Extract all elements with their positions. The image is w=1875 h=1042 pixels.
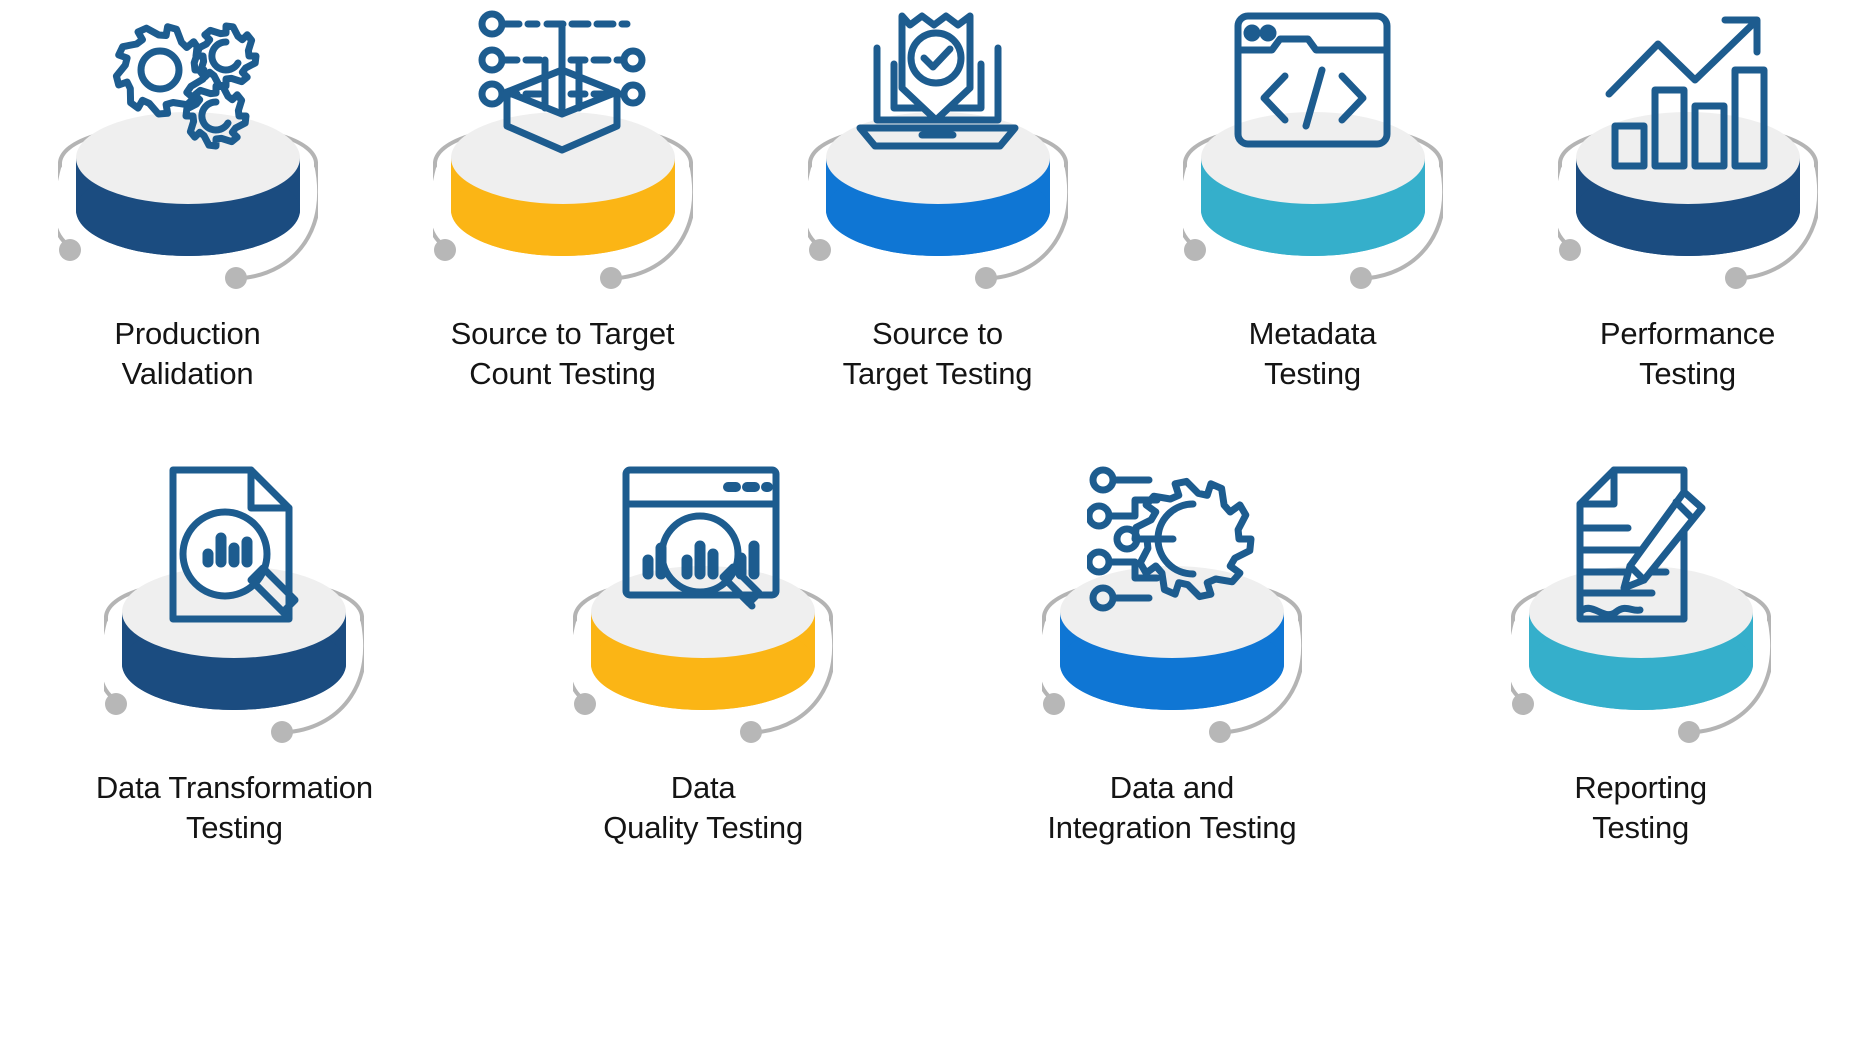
label-data-quality-testing: DataQuality Testing — [538, 768, 868, 847]
label-reporting-testing: ReportingTesting — [1476, 768, 1806, 847]
puck-data-transformation-testing — [104, 462, 364, 762]
label-line: Data and — [1007, 768, 1337, 808]
label-line: Count Testing — [398, 354, 728, 394]
diagram-item-production-validation[interactable]: ProductionValidation — [0, 8, 375, 393]
label-line: Production — [23, 314, 353, 354]
label-line: Testing — [1148, 354, 1478, 394]
label-line: Source to — [773, 314, 1103, 354]
diagram-item-source-to-target-testing[interactable]: Source toTarget Testing — [750, 8, 1125, 393]
label-line: Target Testing — [773, 354, 1103, 394]
puck-data-quality-testing — [573, 462, 833, 762]
label-line: Testing — [1523, 354, 1853, 394]
diagram-item-data-transformation-testing[interactable]: Data TransformationTesting — [0, 462, 469, 847]
label-line: Reporting — [1476, 768, 1806, 808]
label-performance-testing: PerformanceTesting — [1523, 314, 1853, 393]
label-line: Testing — [1476, 808, 1806, 848]
label-line: Metadata — [1148, 314, 1478, 354]
label-source-to-target-testing: Source toTarget Testing — [773, 314, 1103, 393]
diagram-item-performance-testing[interactable]: PerformanceTesting — [1500, 8, 1875, 393]
puck-shape — [808, 8, 1068, 308]
puck-data-and-integration-testing — [1042, 462, 1302, 762]
label-data-and-integration-testing: Data andIntegration Testing — [1007, 768, 1337, 847]
puck-source-to-target-count-testing — [433, 8, 693, 308]
puck-metadata-testing — [1183, 8, 1443, 308]
label-production-validation: ProductionValidation — [23, 314, 353, 393]
diagram-item-data-and-integration-testing[interactable]: Data andIntegration Testing — [938, 462, 1407, 847]
puck-shape — [1042, 462, 1302, 762]
puck-shape — [1558, 8, 1818, 308]
label-source-to-target-count-testing: Source to TargetCount Testing — [398, 314, 728, 393]
label-line: Performance — [1523, 314, 1853, 354]
label-line: Quality Testing — [538, 808, 868, 848]
diagram-item-reporting-testing[interactable]: ReportingTesting — [1406, 462, 1875, 847]
diagram-item-data-quality-testing[interactable]: DataQuality Testing — [469, 462, 938, 847]
label-metadata-testing: MetadataTesting — [1148, 314, 1478, 393]
puck-shape — [1511, 462, 1771, 762]
label-line: Data — [538, 768, 868, 808]
puck-shape — [573, 462, 833, 762]
label-line: Data Transformation — [69, 768, 399, 808]
puck-source-to-target-testing — [808, 8, 1068, 308]
label-line: Validation — [23, 354, 353, 394]
label-line: Source to Target — [398, 314, 728, 354]
icon-row-1: ProductionValidation — [0, 8, 1875, 393]
puck-shape — [1183, 8, 1443, 308]
label-line: Testing — [69, 808, 399, 848]
diagram-item-source-to-target-count-testing[interactable]: Source to TargetCount Testing — [375, 8, 750, 393]
puck-shape — [104, 462, 364, 762]
infographic-board: ProductionValidation — [0, 0, 1875, 1042]
puck-reporting-testing — [1511, 462, 1771, 762]
label-data-transformation-testing: Data TransformationTesting — [69, 768, 399, 847]
icon-row-2: Data TransformationTesting — [0, 462, 1875, 847]
puck-shape — [58, 8, 318, 308]
diagram-item-metadata-testing[interactable]: MetadataTesting — [1125, 8, 1500, 393]
puck-shape — [433, 8, 693, 308]
label-line: Integration Testing — [1007, 808, 1337, 848]
puck-performance-testing — [1558, 8, 1818, 308]
puck-production-validation — [58, 8, 318, 308]
